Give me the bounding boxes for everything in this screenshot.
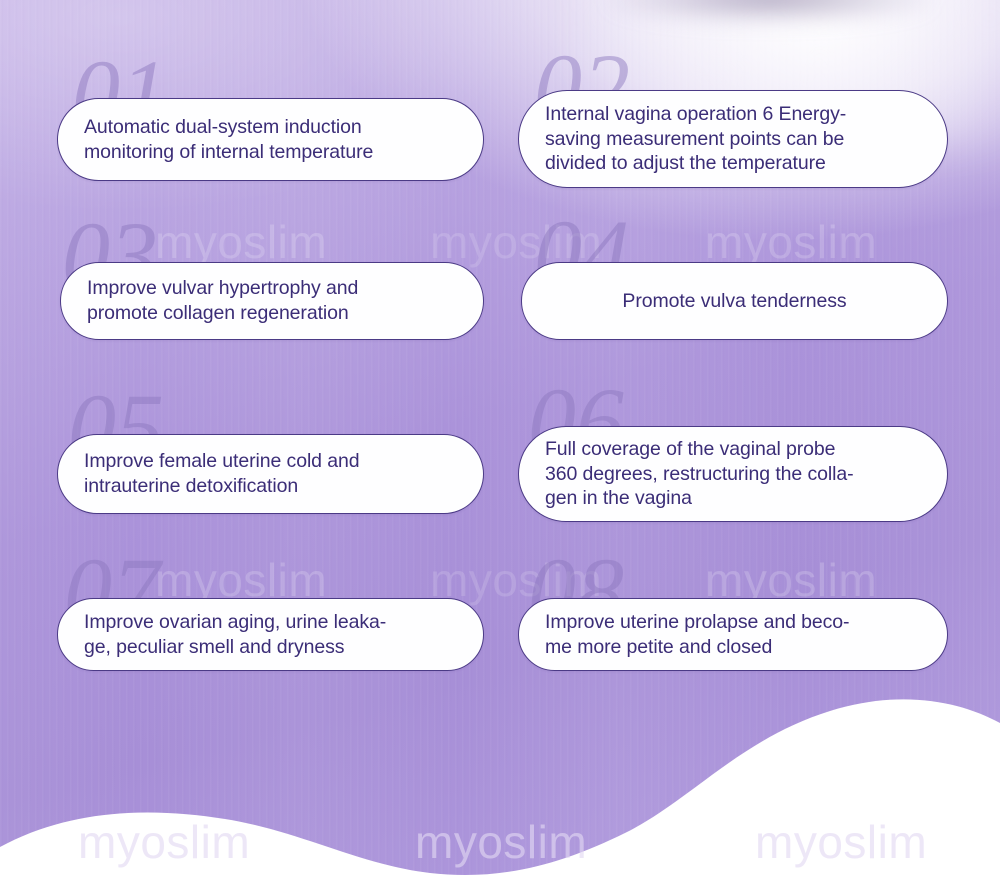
feature-card-text: Improve uterine prolapse and beco- me mo… xyxy=(519,610,947,660)
feature-card-text: Internal vagina operation 6 Energy- savi… xyxy=(519,102,947,177)
feature-card: Full coverage of the vaginal probe 360 d… xyxy=(518,426,948,522)
feature-card: Internal vagina operation 6 Energy- savi… xyxy=(518,90,948,188)
bottom-wave-decoration xyxy=(0,687,1000,877)
feature-card: Improve vulvar hypertrophy and promote c… xyxy=(60,262,484,340)
feature-card-text: Full coverage of the vaginal probe 360 d… xyxy=(519,437,947,512)
feature-card: Improve ovarian aging, urine leaka- ge, … xyxy=(57,598,484,671)
feature-card-text: Promote vulva tenderness xyxy=(522,289,947,314)
feature-card: Improve female uterine cold and intraute… xyxy=(57,434,484,514)
feature-card: Improve uterine prolapse and beco- me mo… xyxy=(518,598,948,671)
feature-card-text: Improve vulvar hypertrophy and promote c… xyxy=(61,276,483,326)
feature-card: Promote vulva tenderness xyxy=(521,262,948,340)
feature-card-text: Automatic dual-system induction monitori… xyxy=(58,115,483,165)
promo-poster: myoslim myoslim myoslim myoslim myoslim … xyxy=(0,0,1000,877)
feature-card-text: Improve female uterine cold and intraute… xyxy=(58,449,483,499)
feature-card: Automatic dual-system induction monitori… xyxy=(57,98,484,181)
background-top-shadow xyxy=(610,0,930,22)
feature-card-text: Improve ovarian aging, urine leaka- ge, … xyxy=(58,610,483,660)
